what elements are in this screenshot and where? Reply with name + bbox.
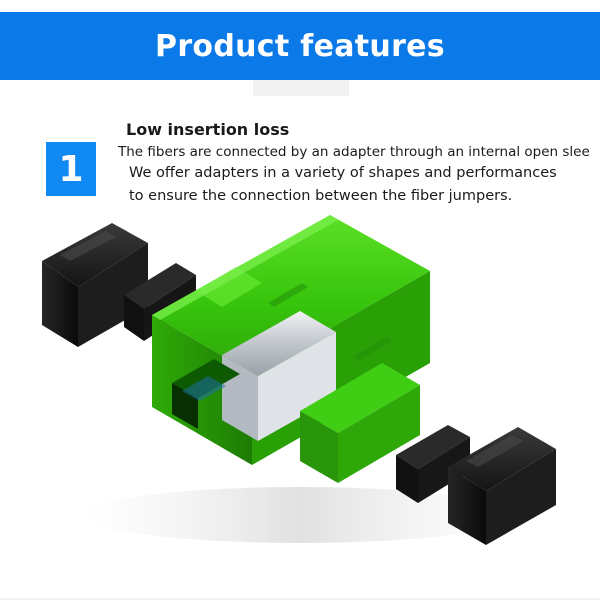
header-banner: Product features [0,12,600,80]
product-feature-page: Product features 1 Low insertion loss Th… [0,0,600,600]
feature-description-line-2: We offer adapters in a variety of shapes… [129,165,557,181]
fiber-adapter-illustration [0,215,600,575]
feature-description-line-3: to ensure the connection between the fib… [129,188,512,204]
adapter-body [152,215,430,483]
feature-number-badge: 1 [46,142,96,196]
page-title: Product features [155,29,445,64]
feature-heading: Low insertion loss [126,120,289,139]
product-photo [0,215,600,575]
banner-shadow-artifact [253,80,349,96]
feature-description-line-1: The fibers are connected by an adapter t… [118,144,590,160]
